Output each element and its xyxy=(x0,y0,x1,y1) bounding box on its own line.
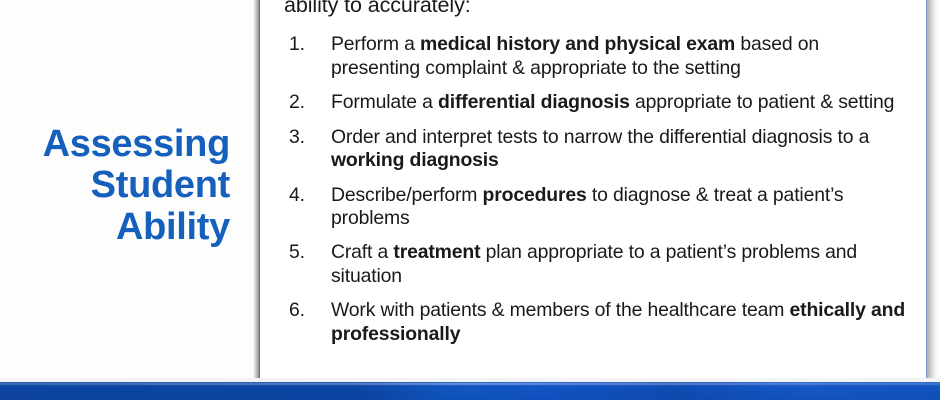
slide: Assessing Student Ability The PRIMARY RO… xyxy=(0,0,940,400)
list-item-text: Order and interpret tests to narrow the … xyxy=(331,126,869,148)
panel-left-shadow xyxy=(253,0,260,378)
list-item-emphasis: treatment xyxy=(393,241,480,263)
list-item-emphasis: differential diagnosis xyxy=(438,91,630,113)
content-panel-inner: The PRIMARY ROLE OF A PRECEPTOR is to as… xyxy=(260,0,926,378)
list-item-text: Work with patients & members of the heal… xyxy=(331,299,790,321)
list-item-text: Describe/perform xyxy=(331,184,483,206)
list-item: Describe/perform procedures to diagnose … xyxy=(284,184,912,231)
list-item-emphasis: working diagnosis xyxy=(331,149,499,171)
slide-title-block: Assessing Student Ability xyxy=(0,0,248,372)
page-title: Assessing Student Ability xyxy=(43,124,230,247)
bottom-bar-highlight xyxy=(0,383,940,385)
list-item-text: Perform a xyxy=(331,33,420,55)
assessment-points-list: Perform a medical history and physical e… xyxy=(284,33,912,346)
content-panel: The PRIMARY ROLE OF A PRECEPTOR is to as… xyxy=(259,0,927,379)
list-item-text: appropriate to patient & setting xyxy=(630,91,895,113)
list-item-emphasis: medical history and physical exam xyxy=(420,33,735,55)
bottom-accent-bar xyxy=(0,382,940,400)
lead-text-after: is to assess a student’s ability to accu… xyxy=(284,0,908,17)
list-item: Craft a treatment plan appropriate to a … xyxy=(284,241,912,288)
list-item: Perform a medical history and physical e… xyxy=(284,33,912,80)
list-item: Order and interpret tests to narrow the … xyxy=(284,126,912,173)
list-item-emphasis: procedures xyxy=(483,184,587,206)
list-item: Work with patients & members of the heal… xyxy=(284,299,912,346)
list-item-text: Craft a xyxy=(331,241,393,263)
lead-paragraph: The PRIMARY ROLE OF A PRECEPTOR is to as… xyxy=(284,0,912,19)
list-item: Formulate a differential diagnosis appro… xyxy=(284,91,912,114)
list-item-text: Formulate a xyxy=(331,91,438,113)
